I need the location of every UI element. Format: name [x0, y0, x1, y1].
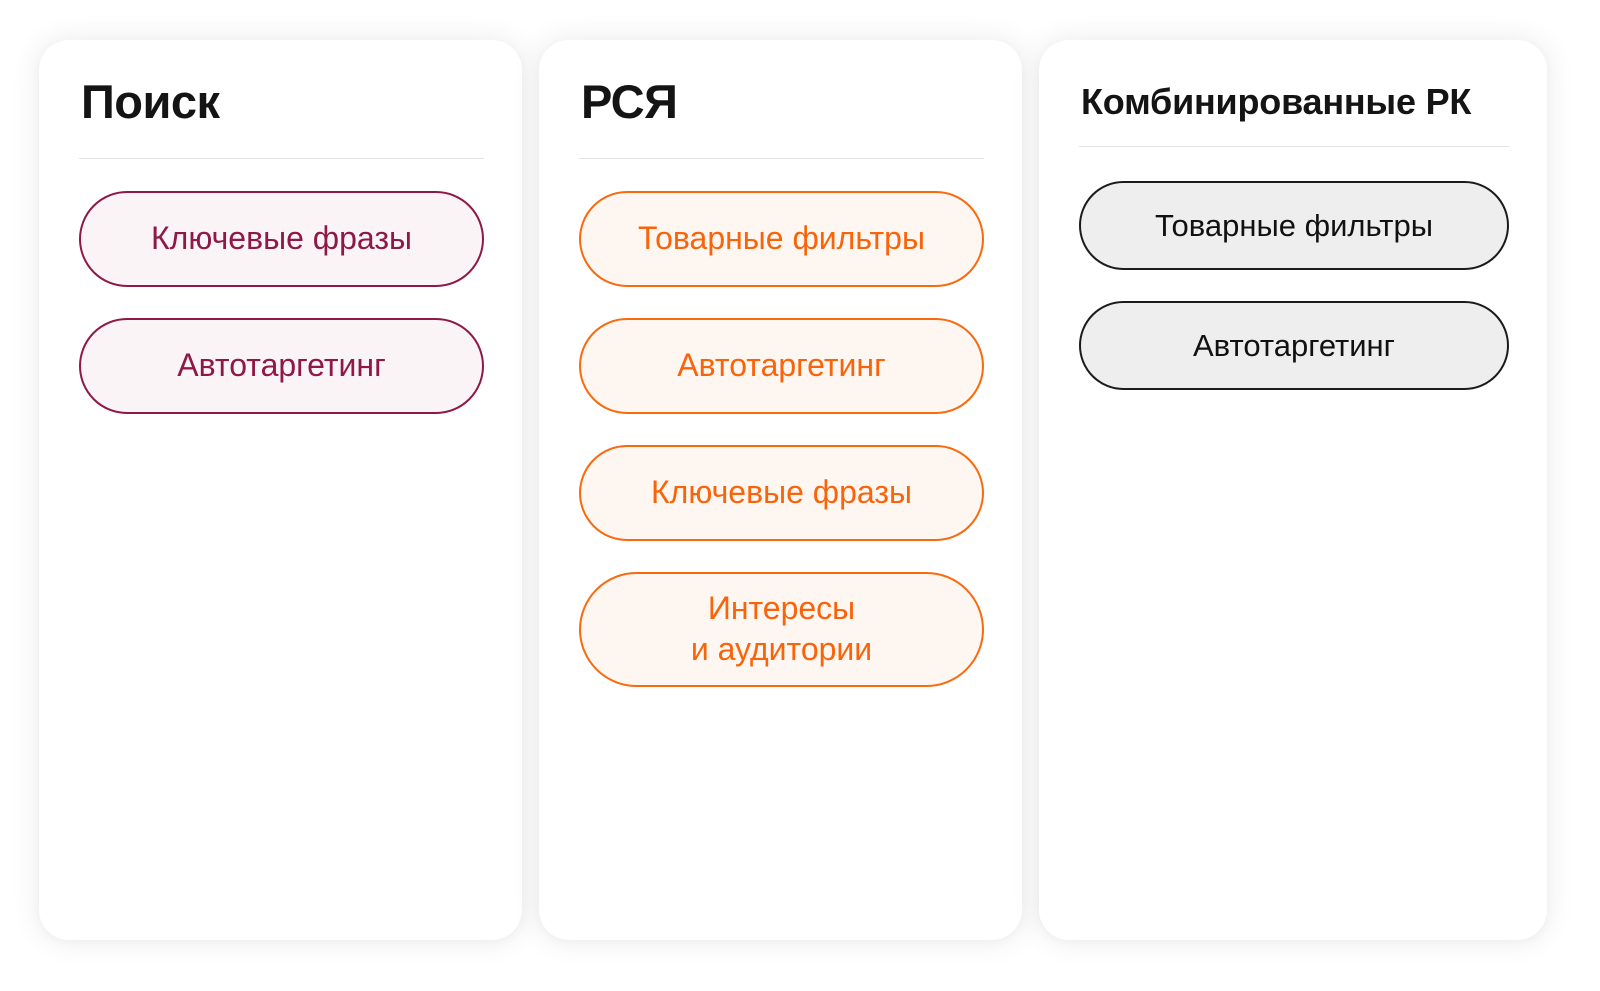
- column-divider-rsya: [579, 158, 984, 159]
- pill-search-autotargeting[interactable]: Автотаргетинг: [79, 318, 484, 414]
- column-title-combined: Комбинированные РК: [1079, 70, 1509, 122]
- column-divider-combined: [1079, 146, 1509, 147]
- pill-list-rsya: Товарные фильтры Автотаргетинг Ключевые …: [579, 191, 984, 687]
- pill-combined-product-filters[interactable]: Товарные фильтры: [1079, 181, 1509, 270]
- column-card-search: Поиск Ключевые фразы Автотаргетинг: [39, 40, 522, 940]
- pill-list-combined: Товарные фильтры Автотаргетинг: [1079, 181, 1509, 390]
- pill-list-search: Ключевые фразы Автотаргетинг: [79, 191, 484, 414]
- column-title-rsya: РСЯ: [579, 70, 984, 129]
- pill-search-keywords[interactable]: Ключевые фразы: [79, 191, 484, 287]
- pill-rsya-product-filters[interactable]: Товарные фильтры: [579, 191, 984, 287]
- pill-rsya-interests-audiences[interactable]: Интересы и аудитории: [579, 572, 984, 687]
- column-card-rsya: РСЯ Товарные фильтры Автотаргетинг Ключе…: [539, 40, 1022, 940]
- column-divider-search: [79, 158, 484, 159]
- column-card-combined: Комбинированные РК Товарные фильтры Авто…: [1039, 40, 1547, 940]
- pill-rsya-autotargeting[interactable]: Автотаргетинг: [579, 318, 984, 414]
- pill-rsya-keywords[interactable]: Ключевые фразы: [579, 445, 984, 541]
- targeting-types-board: Поиск Ключевые фразы Автотаргетинг РСЯ Т…: [0, 0, 1600, 991]
- pill-combined-autotargeting[interactable]: Автотаргетинг: [1079, 301, 1509, 390]
- column-title-search: Поиск: [79, 70, 484, 129]
